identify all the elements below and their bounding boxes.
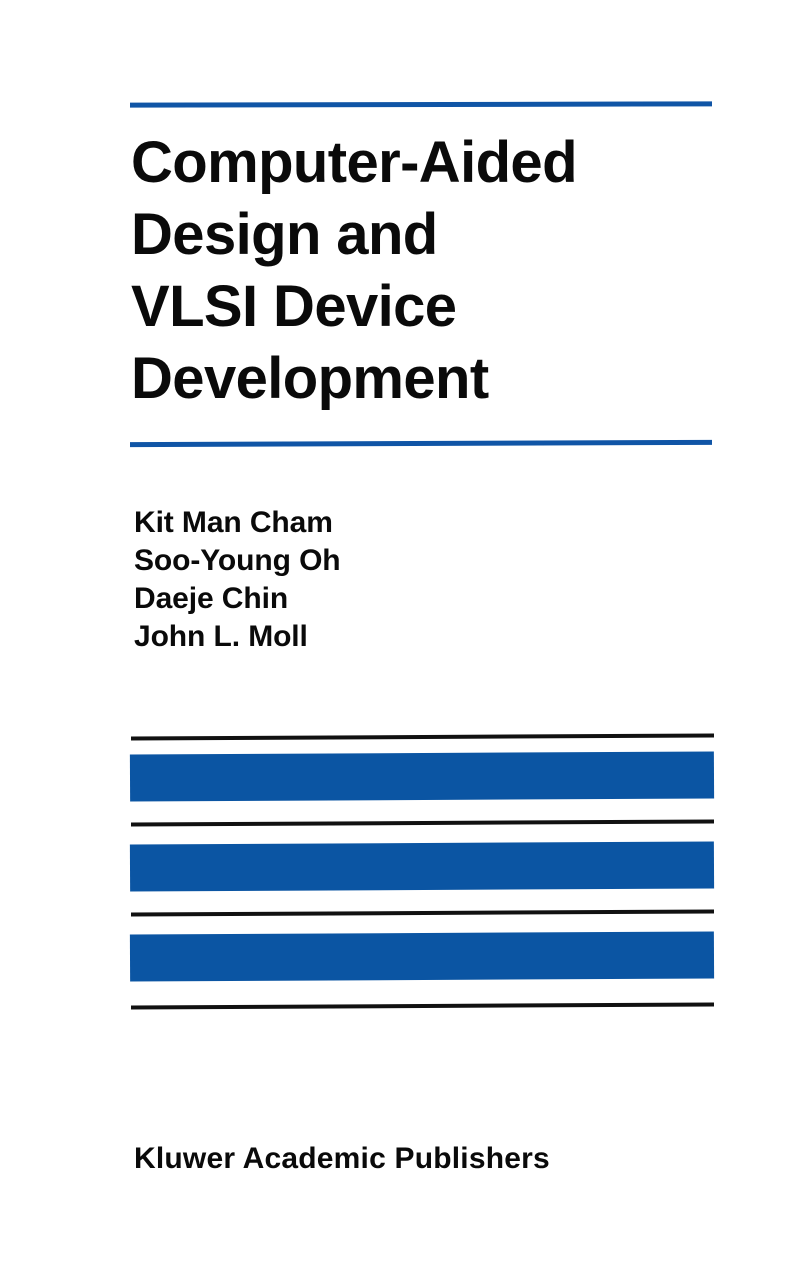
author-name-2: Soo-Young Oh: [134, 542, 634, 580]
band-rule-1: [131, 733, 714, 740]
book-cover-page: Computer-Aided Design and VLSI Device De…: [0, 0, 800, 1272]
title-line-1: Computer-Aided: [131, 127, 751, 199]
band-bar-1: [130, 751, 714, 801]
band-rule-4: [131, 1002, 714, 1009]
title-rule-top: [130, 101, 712, 107]
band-rule-2: [131, 819, 714, 826]
author-name-4: John L. Moll: [134, 618, 634, 656]
band-rule-3: [131, 909, 714, 916]
title-rule-bottom: [130, 440, 712, 447]
title-line-2: Design and: [131, 199, 751, 271]
author-name-1: Kit Man Cham: [134, 504, 634, 542]
title-line-4: Development: [131, 343, 751, 415]
band-bar-3: [130, 931, 714, 981]
author-list: Kit Man Cham Soo-Young Oh Daeje Chin Joh…: [134, 504, 634, 656]
page-title: Computer-Aided Design and VLSI Device De…: [131, 127, 751, 415]
author-name-3: Daeje Chin: [134, 580, 634, 618]
title-line-3: VLSI Device: [131, 271, 751, 343]
publisher-name: Kluwer Academic Publishers: [134, 1141, 550, 1177]
band-bar-2: [130, 841, 714, 891]
